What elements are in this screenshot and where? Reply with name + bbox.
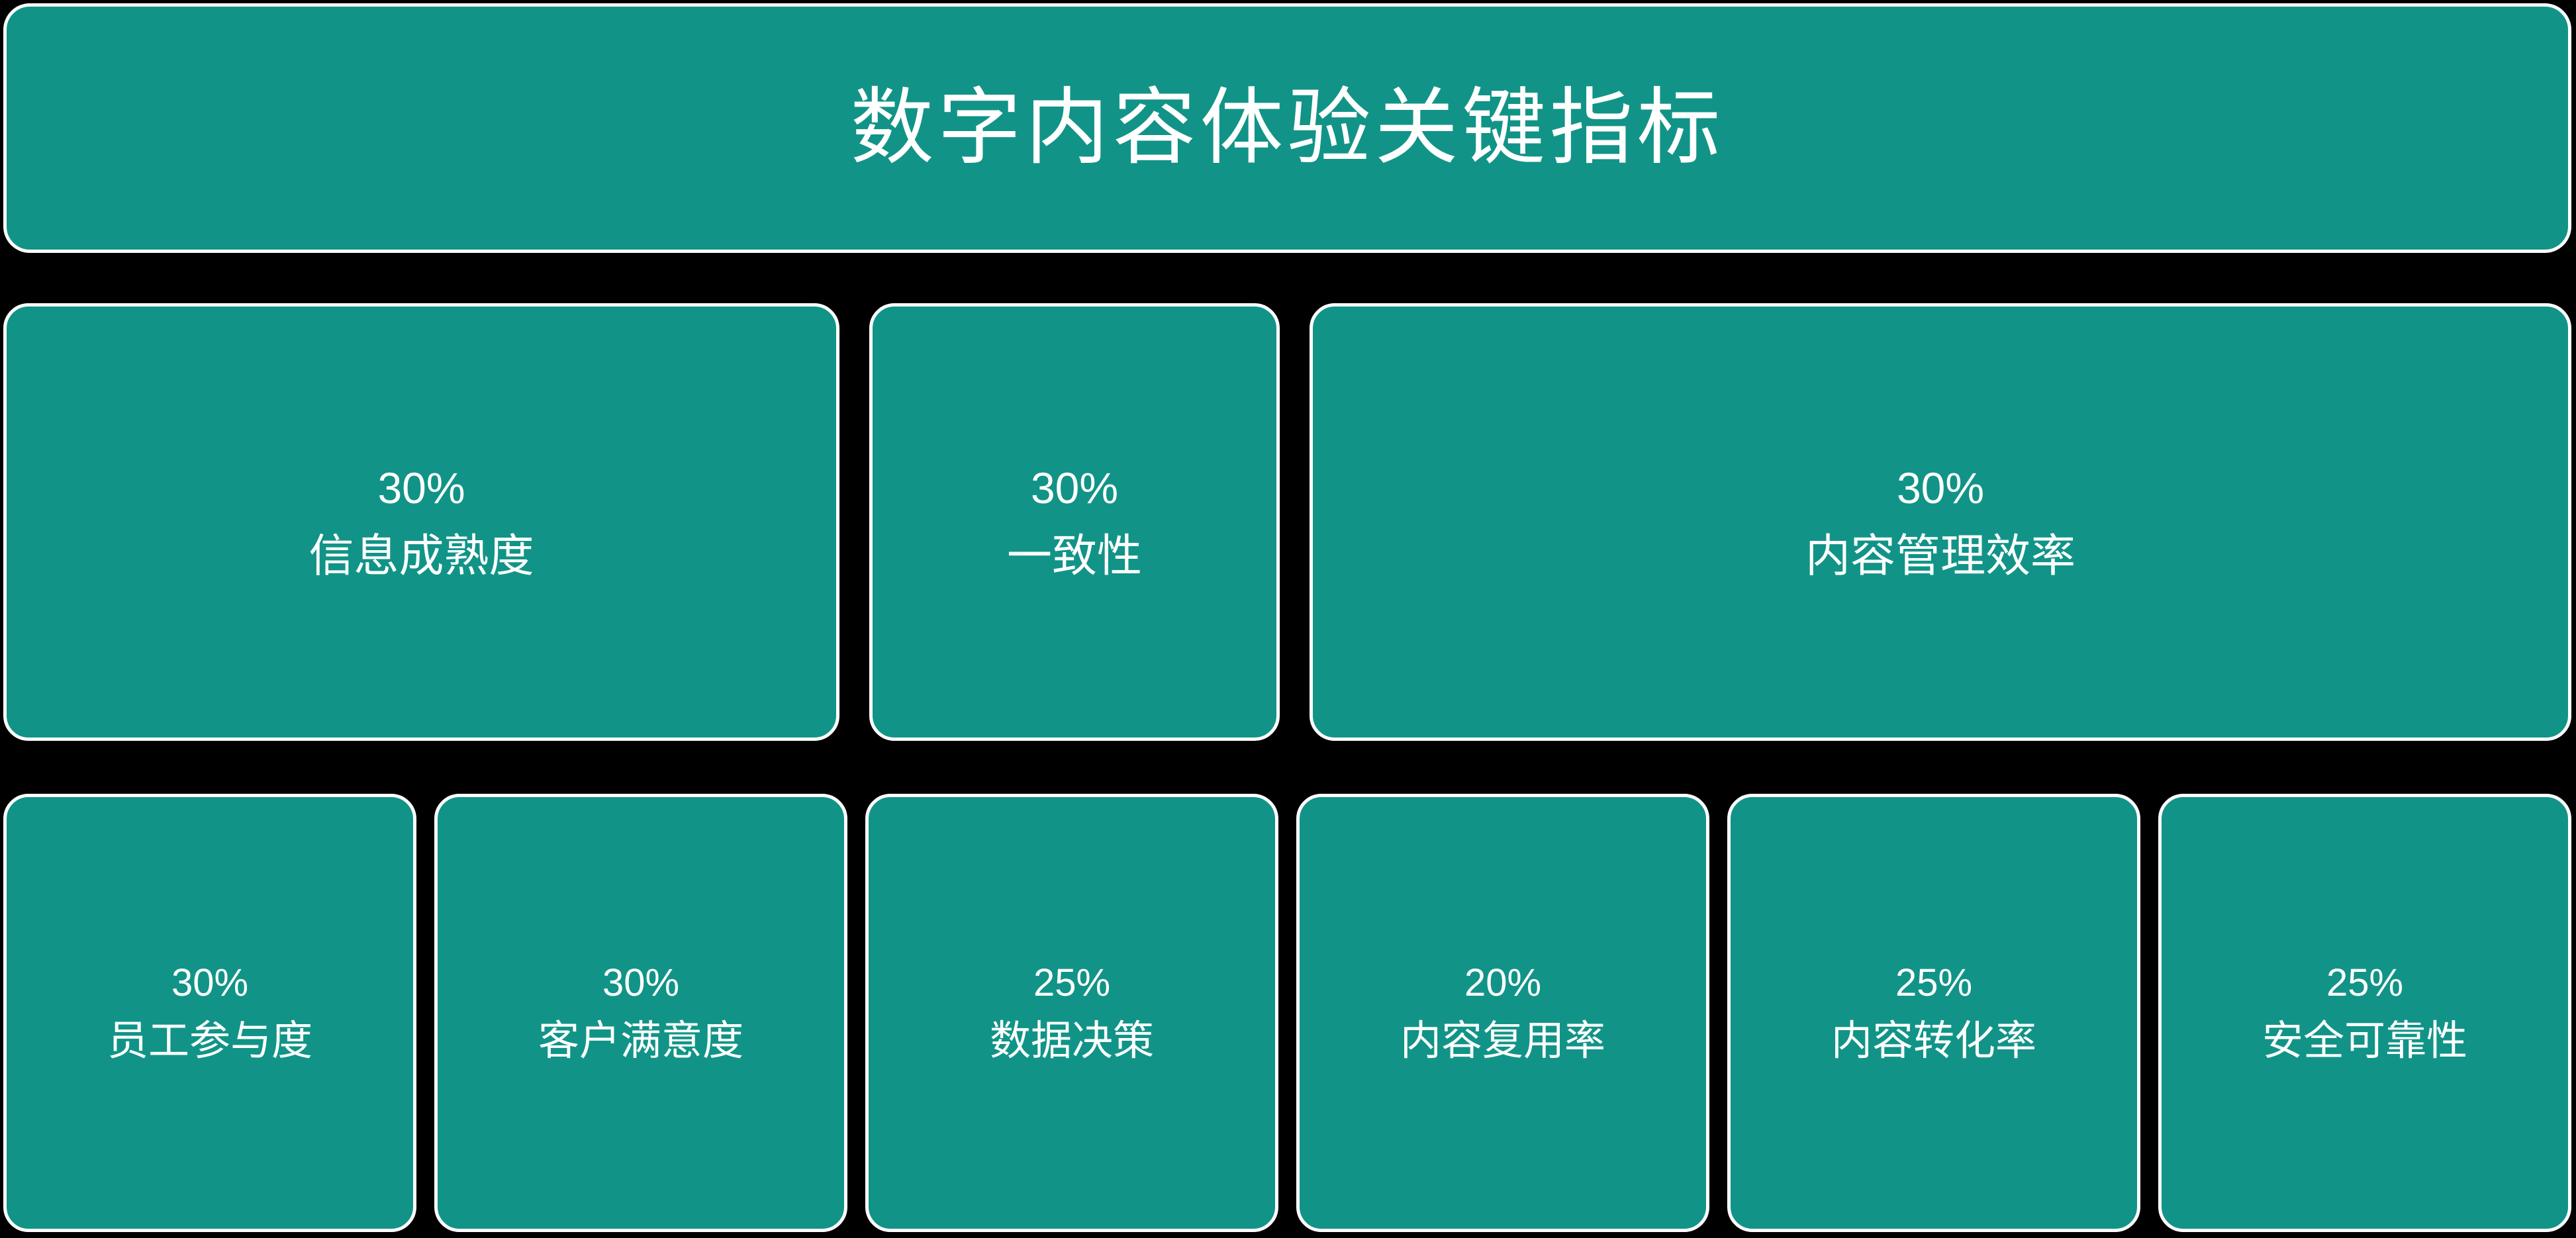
metric-label: 内容转化率 [1831,1021,2036,1062]
metric-card-employee-engagement[interactable]: 30% 员工参与度 [3,794,416,1232]
metrics-dashboard: 数字内容体验关键指标 30% 信息成熟度 30% 一致性 30% 内容管理效率 … [0,0,2576,1238]
metric-value: 25% [2326,964,2403,1002]
metric-value: 30% [377,466,465,510]
metric-value: 30% [171,964,248,1002]
metric-card-data-driven-decisions[interactable]: 25% 数据决策 [865,794,1278,1232]
header-row: 数字内容体验关键指标 [3,3,2571,253]
metric-label: 安全可靠性 [2262,1021,2467,1062]
page-title: 数字内容体验关键指标 [851,83,1725,173]
metric-card-content-conversion-rate[interactable]: 25% 内容转化率 [1727,794,2140,1232]
metric-row-1: 30% 信息成熟度 30% 一致性 30% 内容管理效率 [3,303,2571,741]
metric-card-content-reuse-rate[interactable]: 20% 内容复用率 [1296,794,1709,1232]
metric-label: 内容管理效率 [1805,534,2075,579]
metric-label: 客户满意度 [538,1021,743,1062]
metric-value: 30% [1897,466,1984,510]
metric-label: 员工参与度 [107,1021,312,1062]
metric-card-information-maturity[interactable]: 30% 信息成熟度 [3,303,839,741]
metric-label: 内容复用率 [1400,1021,1605,1062]
metric-value: 25% [1033,964,1110,1002]
metric-card-customer-satisfaction[interactable]: 30% 客户满意度 [434,794,847,1232]
metric-card-security-reliability[interactable]: 25% 安全可靠性 [2158,794,2571,1232]
metric-card-consistency[interactable]: 30% 一致性 [869,303,1280,741]
header-card: 数字内容体验关键指标 [3,3,2571,253]
metric-value: 30% [602,964,679,1002]
metric-value: 25% [1895,964,1972,1002]
metric-label: 一致性 [1007,534,1142,579]
metric-label: 信息成熟度 [309,534,534,579]
metric-value: 20% [1464,964,1541,1002]
metric-row-2: 30% 员工参与度 30% 客户满意度 25% 数据决策 20% 内容复用率 2… [3,794,2571,1232]
metric-label: 数据决策 [990,1021,1154,1062]
metric-card-content-management-efficiency[interactable]: 30% 内容管理效率 [1310,303,2571,741]
metric-value: 30% [1031,466,1118,510]
